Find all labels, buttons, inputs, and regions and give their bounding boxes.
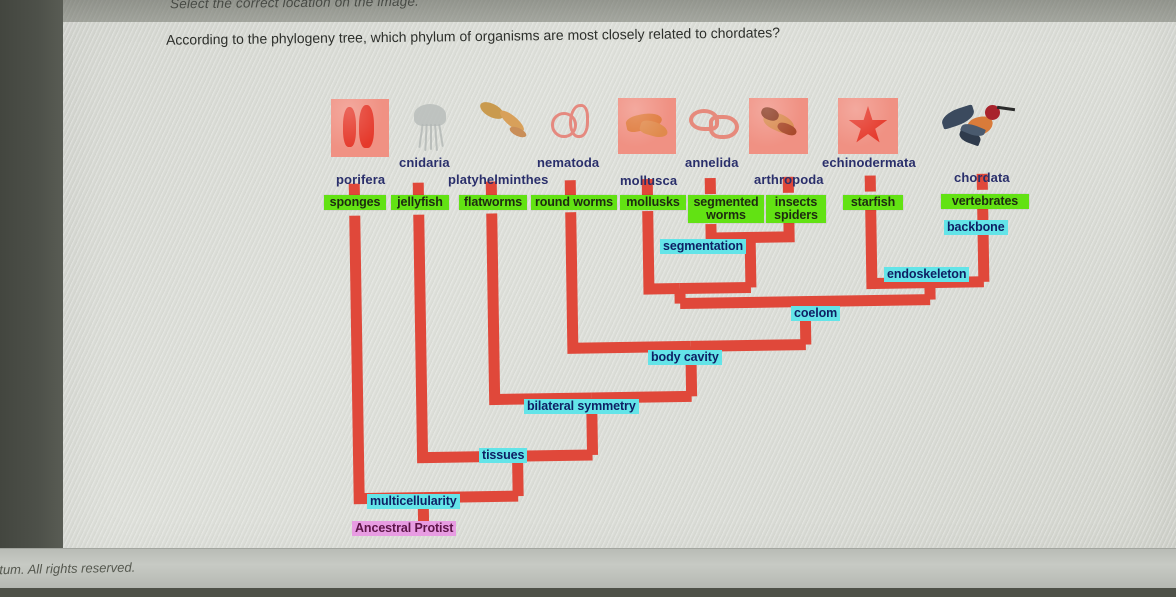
root-label-ancestral-protist[interactable]: Ancestral Protist [352, 521, 456, 536]
taxon-label-sponges[interactable]: sponges [324, 195, 386, 210]
taxon-label-round-worms[interactable]: round worms [531, 195, 617, 210]
insects-spiders-line1: insectsspiders [774, 195, 818, 222]
taxon-label-flatworms[interactable]: flatworms [459, 195, 527, 210]
trait-label-backbone[interactable]: backbone [944, 220, 1008, 235]
phylum-label-arthropoda: arthropoda [751, 172, 827, 187]
taxon-label-segmented-worms[interactable]: segmentedworms [688, 195, 764, 223]
phylum-label-nematoda: nematoda [534, 155, 602, 170]
trait-label-endoskeleton[interactable]: endoskeleton [884, 267, 969, 282]
trait-label-coelom[interactable]: coelom [791, 306, 840, 321]
taxon-label-mollusks[interactable]: mollusks [620, 195, 686, 210]
taxon-label-vertebrates[interactable]: vertebrates [941, 194, 1029, 209]
taxon-label-insects-spiders[interactable]: insectsspiders [766, 195, 826, 223]
photo-frame: Select the correct location on the image… [0, 0, 1176, 588]
phylum-label-cnidaria: cnidaria [396, 155, 453, 170]
taxon-label-jellyfish[interactable]: jellyfish [391, 195, 449, 210]
trait-label-multicellularity[interactable]: multicellularity [367, 494, 460, 509]
trait-label-segmentation[interactable]: segmentation [660, 239, 746, 254]
phylum-label-mollusca: mollusca [617, 173, 680, 188]
trait-label-bilateral-symmetry[interactable]: bilateral symmetry [524, 399, 639, 414]
phylum-label-porifera: porifera [333, 172, 388, 187]
phylum-label-platyhelminthes: platyhelminthes [445, 172, 551, 187]
trait-label-body-cavity[interactable]: body cavity [648, 350, 722, 365]
segmented-worms-line1: segmentedworms [693, 195, 758, 222]
phylogeny-tree-branches [0, 0, 1176, 597]
phylum-label-chordata: chordata [951, 170, 1013, 185]
phylum-label-echinodermata: echinodermata [819, 155, 919, 170]
taxon-label-starfish[interactable]: starfish [843, 195, 903, 210]
trait-label-tissues[interactable]: tissues [479, 448, 527, 463]
phylum-label-annelida: annelida [682, 155, 742, 170]
